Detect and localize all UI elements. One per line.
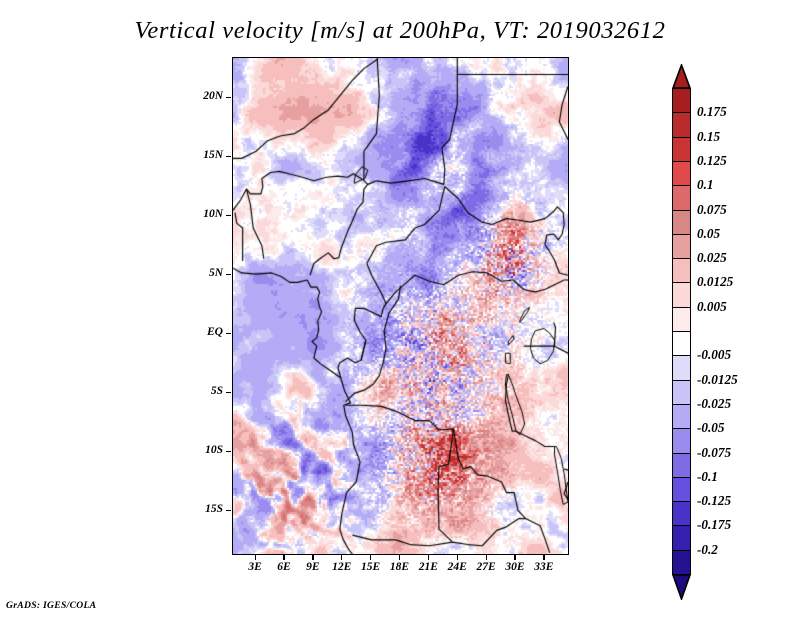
colorbar-tick-label: 0.15 xyxy=(697,130,720,143)
colorbar-tick-label: -0.05 xyxy=(697,421,724,434)
colorbar-band xyxy=(672,501,691,527)
x-axis-tick xyxy=(341,555,342,560)
x-axis-tick xyxy=(486,555,487,560)
x-axis-tick xyxy=(457,555,458,560)
y-axis-tick xyxy=(226,156,231,157)
colorbar-tick-label: -0.175 xyxy=(697,518,731,531)
colorbar-band xyxy=(672,477,691,503)
colorbar-tick-label: 0.075 xyxy=(697,203,727,216)
page-title: Vertical velocity [m/s] at 200hPa, VT: 2… xyxy=(0,17,800,45)
map-plot-area xyxy=(232,57,569,555)
x-axis-tick xyxy=(514,555,515,560)
y-axis-tick xyxy=(226,274,231,275)
y-axis-label-10n: 10N xyxy=(203,208,223,220)
colorbar-band xyxy=(672,161,691,187)
colorbar-tick-label: -0.0125 xyxy=(697,373,738,386)
y-axis-label-5s: 5S xyxy=(211,385,223,397)
colorbar-band xyxy=(672,185,691,211)
colorbar-tick-label: 0.125 xyxy=(697,154,727,167)
colorbar-band xyxy=(672,428,691,454)
colorbar-band xyxy=(672,234,691,260)
colorbar-band xyxy=(672,525,691,551)
colorbar-band xyxy=(672,380,691,406)
colorbar-band xyxy=(672,307,691,333)
colorbar-tick-label: -0.025 xyxy=(697,397,731,410)
colorbar-band xyxy=(672,112,691,138)
y-axis-tick xyxy=(226,510,231,511)
colorbar-tick-label: -0.075 xyxy=(697,446,731,459)
y-axis-label-10s: 10S xyxy=(205,444,223,456)
x-axis-tick xyxy=(543,555,544,560)
colorbar-band xyxy=(672,258,691,284)
colorbar-band xyxy=(672,88,691,114)
colorbar-tick-label: -0.2 xyxy=(697,543,718,556)
colorbar-band xyxy=(672,282,691,308)
colorbar-tick-label: 0.025 xyxy=(697,251,727,264)
grads-plot-page: Vertical velocity [m/s] at 200hPa, VT: 2… xyxy=(0,0,800,618)
colorbar-tick-label: 0.1 xyxy=(697,178,713,191)
colorbar-band xyxy=(672,404,691,430)
y-axis-label-15s: 15S xyxy=(205,503,223,515)
colorbar-band xyxy=(672,550,691,576)
x-axis-label-33e: 33E xyxy=(524,561,564,573)
y-axis-label-5n: 5N xyxy=(209,267,223,279)
colorbar-band xyxy=(672,210,691,236)
vertical-velocity-heatmap xyxy=(233,58,568,554)
colorbar-tick-label: 0.175 xyxy=(697,105,727,118)
colorbar-tick-label: -0.005 xyxy=(697,348,731,361)
y-axis-label-20n: 20N xyxy=(203,90,223,102)
y-axis-tick xyxy=(226,333,231,334)
x-axis-tick xyxy=(370,555,371,560)
y-axis-label-eq: EQ xyxy=(207,326,223,338)
colorbar-tick-label: 0.05 xyxy=(697,227,720,240)
colorbar-tick-label: 0.005 xyxy=(697,300,727,313)
footer-credit: GrADS: IGES/COLA xyxy=(6,600,96,611)
colorbar-band xyxy=(672,355,691,381)
x-axis-tick xyxy=(312,555,313,560)
colorbar-arrow-bottom xyxy=(672,574,691,600)
colorbar-tick-label: -0.125 xyxy=(697,494,731,507)
colorbar-band xyxy=(672,331,691,357)
y-axis-tick xyxy=(226,451,231,452)
y-axis-tick xyxy=(226,97,231,98)
y-axis-label-15n: 15N xyxy=(203,149,223,161)
colorbar-arrow-top xyxy=(672,64,691,88)
y-axis-tick xyxy=(226,215,231,216)
x-axis-tick xyxy=(399,555,400,560)
x-axis-tick xyxy=(428,555,429,560)
x-axis-tick xyxy=(255,555,256,560)
colorbar-band xyxy=(672,453,691,479)
colorbar-tick-label: 0.0125 xyxy=(697,275,733,288)
colorbar-tick-label: -0.1 xyxy=(697,470,718,483)
y-axis-tick xyxy=(226,392,231,393)
colorbar-band xyxy=(672,137,691,163)
x-axis-tick xyxy=(283,555,284,560)
